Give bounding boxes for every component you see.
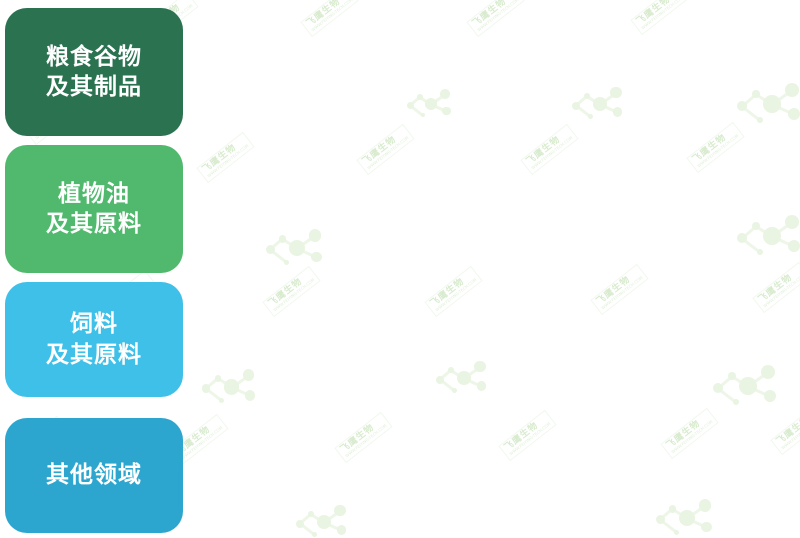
watermark-tag: 飞鹰生物WWW.FEIYING-TECH.COM (590, 264, 648, 315)
watermark-molecule-icon (660, 500, 723, 538)
watermark-molecule-icon (206, 370, 266, 409)
watermark-tag: 飞鹰生物WWW.FEIYING-TECH.COM (262, 266, 320, 317)
watermark-tag: 飞鹰生物WWW.FEIYING-TECH.COM (520, 124, 578, 175)
category-label-box-grain-cereals[interactable]: 粮食谷物 及其制品 (5, 8, 183, 136)
watermark-tag: 飞鹰生物WWW.FEIYING-TECH.COM (196, 132, 254, 183)
watermark-tag: 飞鹰生物WWW.FEIYING-TECH.COM (770, 404, 800, 455)
watermark-tag: 飞鹰生物WWW.FEIYING-TECH.COM (686, 122, 744, 173)
watermark-tag: 飞鹰生物WWW.FEIYING-TECH.COM (466, 0, 524, 37)
watermark-tag: 飞鹰生物WWW.FEIYING-TECH.COM (424, 266, 482, 317)
category-label-box-other-fields[interactable]: 其他领域 (5, 418, 183, 533)
watermark-molecule-icon (742, 84, 800, 130)
watermark-molecule-icon (300, 506, 356, 538)
watermark-molecule-icon (410, 90, 459, 122)
category-label-box-feed-materials[interactable]: 饲料 及其原料 (5, 282, 183, 397)
watermark-tag: 飞鹰生物WWW.FEIYING-TECH.COM (356, 124, 414, 175)
category-label-text: 粮食谷物 及其制品 (46, 42, 142, 103)
watermark-molecule-icon (742, 216, 800, 262)
watermark-tag: 飞鹰生物WWW.FEIYING-TECH.COM (334, 412, 392, 463)
category-label-text: 饲料 及其原料 (46, 309, 142, 370)
watermark-tag: 飞鹰生物WWW.FEIYING-TECH.COM (752, 262, 800, 313)
watermark-molecule-icon (576, 88, 632, 125)
category-label-box-vegetable-oil[interactable]: 植物油 及其原料 (5, 145, 183, 273)
watermark-molecule-icon (440, 362, 496, 399)
category-label-text: 其他领域 (46, 460, 142, 490)
watermark-tag: 飞鹰生物WWW.FEIYING-TECH.COM (660, 408, 718, 459)
watermark-tag: 飞鹰生物WWW.FEIYING-TECH.COM (300, 0, 358, 37)
category-label-text: 植物油 及其原料 (46, 179, 142, 240)
watermark-molecule-icon (718, 366, 788, 412)
watermark-molecule-icon (270, 230, 333, 271)
watermark-tag: 飞鹰生物WWW.FEIYING-TECH.COM (630, 0, 688, 35)
watermark-tag: 飞鹰生物WWW.FEIYING-TECH.COM (498, 410, 556, 461)
